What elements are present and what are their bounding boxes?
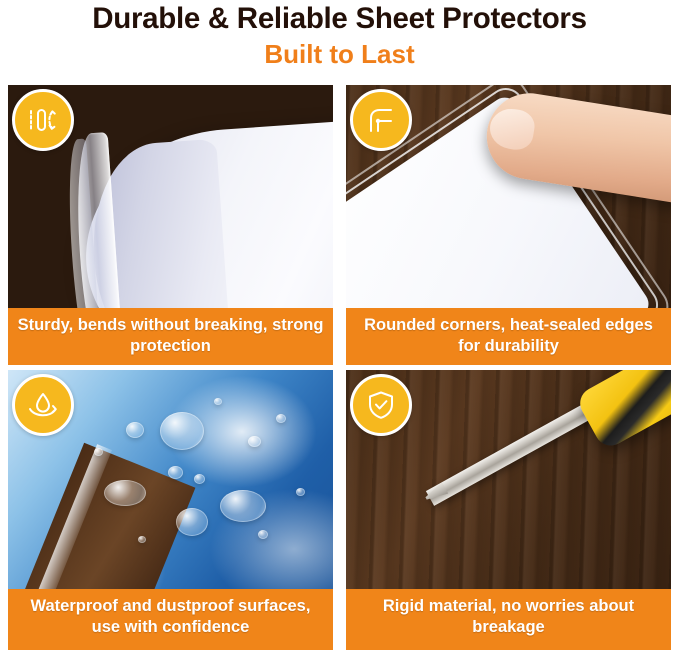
panel-caption: Rigid material, no worries about breakag… (346, 589, 671, 650)
shield-check-icon (350, 374, 412, 436)
product-infographic: Durable & Reliable Sheet Protectors Buil… (0, 0, 679, 665)
water-droplet (168, 466, 183, 479)
water-droplet (138, 536, 146, 543)
water-droplet (276, 414, 286, 423)
panel-caption: Waterproof and dustproof surfaces, use w… (8, 589, 333, 650)
water-droplet (104, 480, 146, 506)
water-droplet (94, 448, 103, 456)
water-drop-repel-icon (12, 374, 74, 436)
feature-panel-flexibility: Sturdy, bends without breaking, strong p… (8, 85, 333, 365)
feature-grid: Sturdy, bends without breaking, strong p… (8, 85, 671, 665)
water-droplet (296, 488, 305, 496)
feature-panel-rigid: Rigid material, no worries about breakag… (346, 370, 671, 650)
panel-caption: Sturdy, bends without breaking, strong p… (8, 308, 333, 365)
water-droplet (176, 508, 208, 536)
page-subtitle: Built to Last (0, 38, 679, 70)
page-title: Durable & Reliable Sheet Protectors (0, 2, 679, 36)
header: Durable & Reliable Sheet Protectors Buil… (0, 0, 679, 70)
rounded-corner-radius-icon (350, 89, 412, 151)
water-droplet (220, 490, 266, 522)
water-droplet (248, 436, 261, 447)
panel-caption: Rounded corners, heat-sealed edges for d… (346, 308, 671, 365)
feature-panel-rounded-corners: Rounded corners, heat-sealed edges for d… (346, 85, 671, 365)
bend-flex-icon (12, 89, 74, 151)
water-droplet (126, 422, 144, 438)
water-droplet (160, 412, 204, 450)
water-droplet (214, 398, 222, 405)
feature-panel-waterproof: Waterproof and dustproof surfaces, use w… (8, 370, 333, 650)
water-droplet (194, 474, 205, 484)
water-droplet (258, 530, 268, 539)
